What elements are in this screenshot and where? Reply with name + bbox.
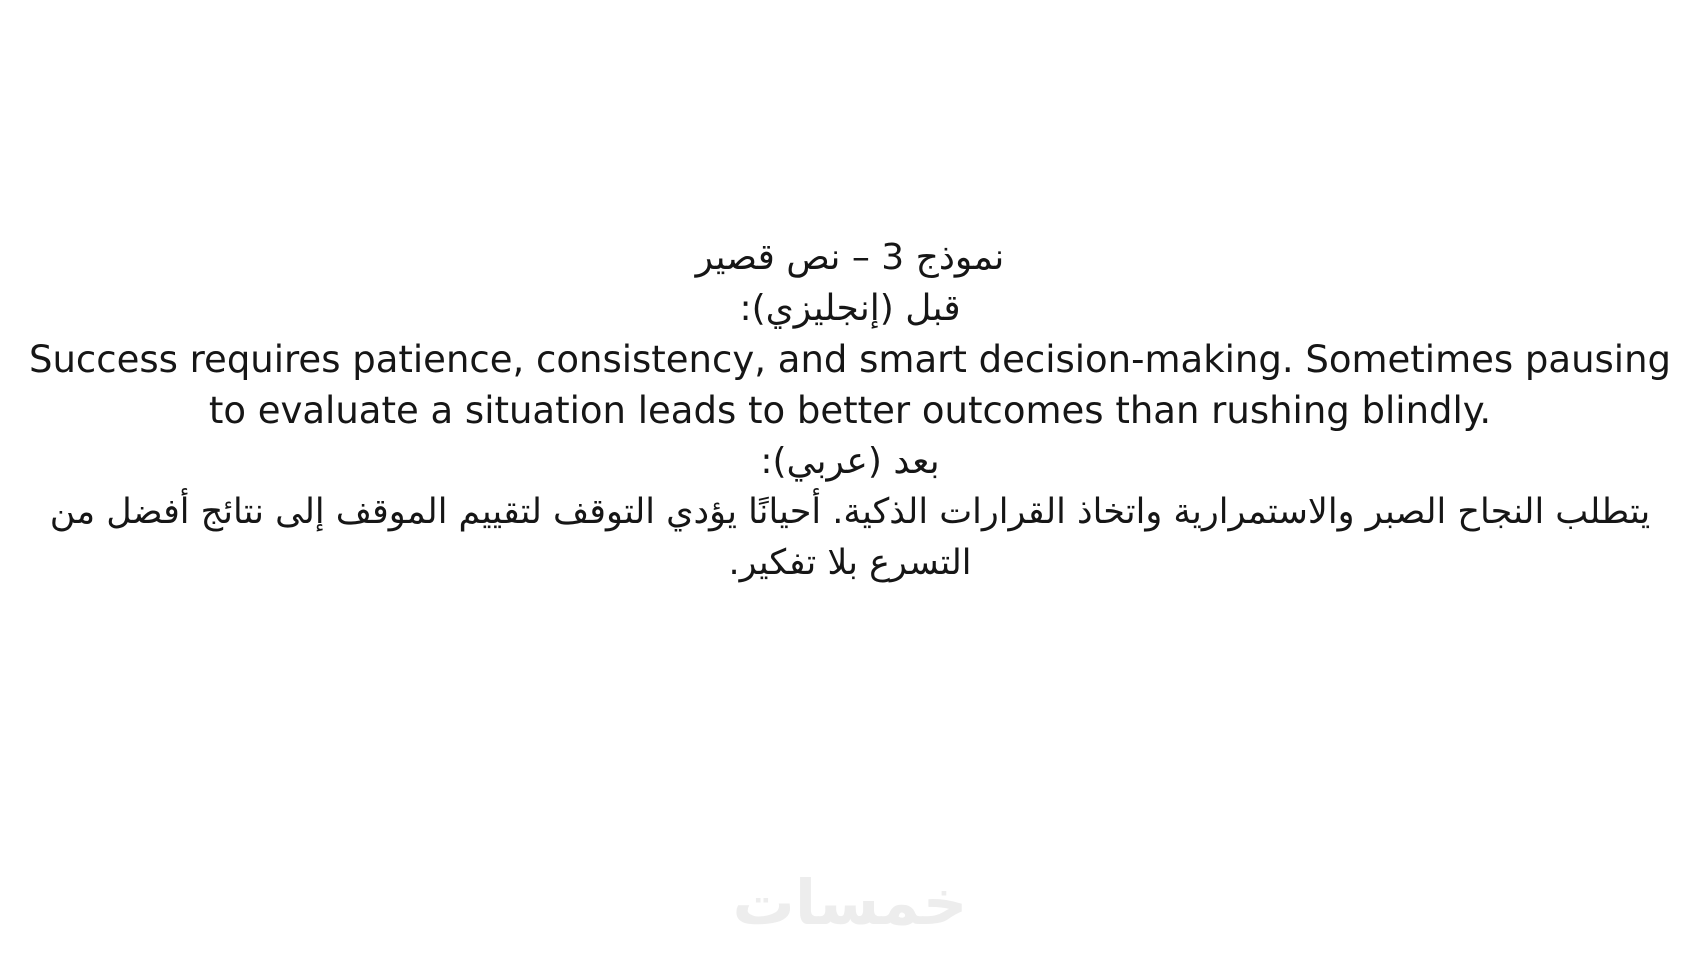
before-section-label: قبل (إنجليزي): xyxy=(0,283,1700,334)
english-text-line-2: to evaluate a situation leads to better … xyxy=(0,385,1700,436)
khamsat-watermark: خمسات xyxy=(0,872,1700,934)
document-page: نموذج 3 – نص قصير قبل (إنجليزي): Success… xyxy=(0,0,1700,970)
document-title: نموذج 3 – نص قصير xyxy=(0,232,1700,283)
english-text-line-1: Success requires patience, consistency, … xyxy=(0,334,1700,385)
document-text-block: نموذج 3 – نص قصير قبل (إنجليزي): Success… xyxy=(0,232,1700,589)
after-section-label: بعد (عربي): xyxy=(0,436,1700,487)
arabic-translation-paragraph: يتطلب النجاح الصبر والاستمرارية واتخاذ ا… xyxy=(5,487,1695,589)
